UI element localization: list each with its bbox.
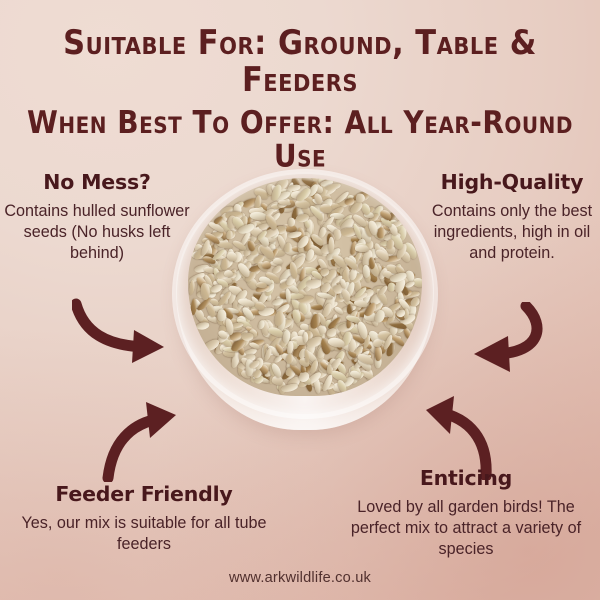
feature-body-enticing: Loved by all garden birds! The perfect m…: [332, 497, 600, 560]
feature-body-no-mess: Contains hulled sunflower seeds (No husk…: [0, 201, 194, 264]
headline-group: Suitable For: Ground, Table & Feeders Wh…: [0, 26, 600, 166]
feature-block-no-mess: No Mess? Contains hulled sunflower seeds…: [0, 170, 194, 264]
feature-block-high-quality: High-Quality Contains only the best ingr…: [424, 170, 600, 264]
headline-suitable-for: Suitable For: Ground, Table & Feeders: [0, 26, 600, 100]
feature-heading-no-mess: No Mess?: [0, 170, 194, 194]
headline-when-best-to-offer: When Best To Offer: All Year-Round Use: [0, 106, 600, 174]
curved-arrow-down-right-icon: [72, 298, 184, 370]
product-bowl-image: [176, 172, 434, 430]
footer-website-url[interactable]: www.arkwildlife.co.uk: [0, 570, 600, 586]
bowl-rim: [172, 169, 438, 419]
feature-heading-enticing: Enticing: [332, 466, 600, 490]
feature-heading-high-quality: High-Quality: [424, 170, 600, 194]
feature-body-high-quality: Contains only the best ingredients, high…: [424, 201, 600, 264]
infographic-poster: Suitable For: Ground, Table & Feeders Wh…: [0, 0, 600, 600]
feature-block-enticing: Enticing Loved by all garden birds! The …: [332, 466, 600, 560]
feature-block-feeder-friendly: Feeder Friendly Yes, our mix is suitable…: [10, 482, 278, 555]
curved-arrow-up-right-icon: [102, 398, 206, 482]
feature-heading-feeder-friendly: Feeder Friendly: [10, 482, 278, 506]
curved-arrow-down-left-icon: [452, 302, 564, 376]
feature-body-feeder-friendly: Yes, our mix is suitable for all tube fe…: [10, 513, 278, 555]
